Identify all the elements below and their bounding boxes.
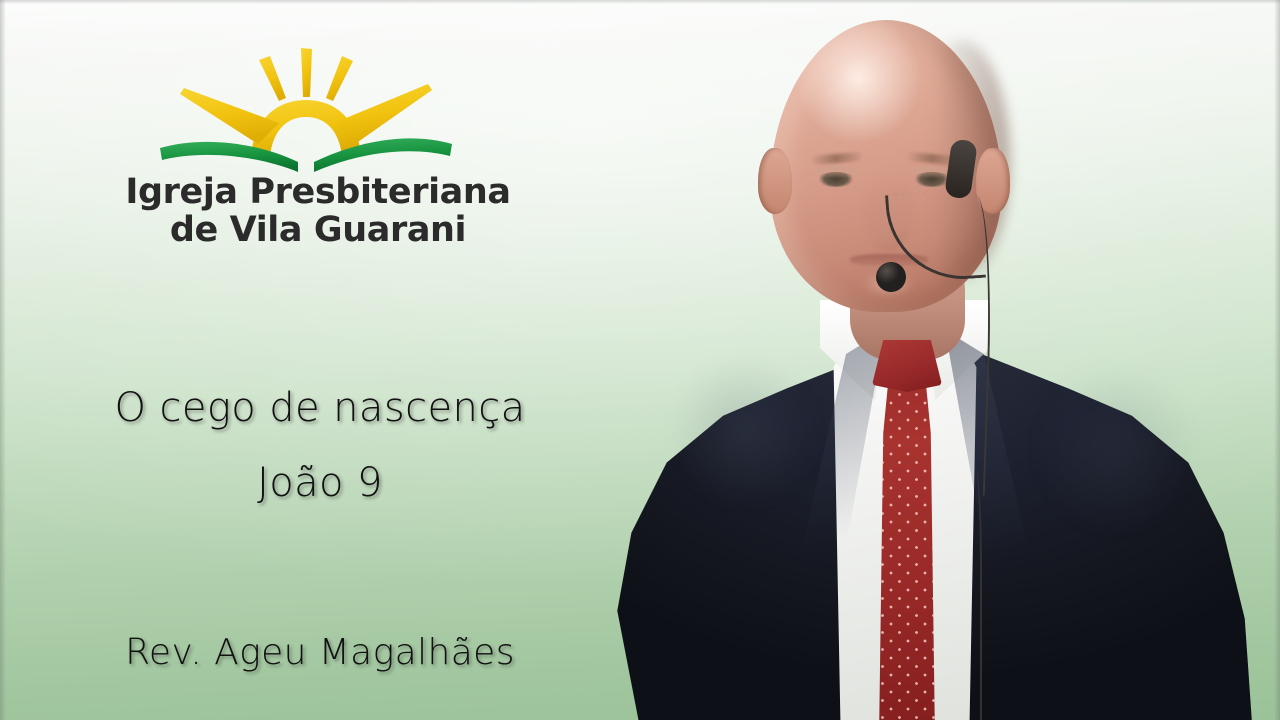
right-shoulder-highlight	[1000, 370, 1230, 570]
church-name: Igreja Presbiteriana de Vila Guarani	[108, 174, 528, 250]
ear-left	[758, 148, 792, 214]
speaker-name: Rev. Ageu Magalhães	[0, 632, 640, 673]
sermon-title: O cego de nascença	[0, 385, 640, 431]
video-slide-frame: Igreja Presbiteriana de Vila Guarani O c…	[0, 0, 1280, 720]
sunrise-over-open-book-icon	[146, 38, 466, 178]
church-name-line-2: de Vila Guarani	[108, 212, 528, 250]
church-logo: Igreja Presbiteriana de Vila Guarani	[108, 38, 528, 278]
church-name-line-1: Igreja Presbiteriana	[108, 174, 528, 212]
eyelid-left	[814, 166, 858, 178]
necktie-knot	[872, 340, 942, 392]
speaker-portrait	[520, 0, 1280, 720]
frame-edge-top	[0, 0, 1280, 4]
headset-microphone-icon	[876, 262, 906, 292]
scripture-reference: João 9	[0, 460, 640, 506]
headset-cable-lower-icon	[966, 470, 982, 720]
